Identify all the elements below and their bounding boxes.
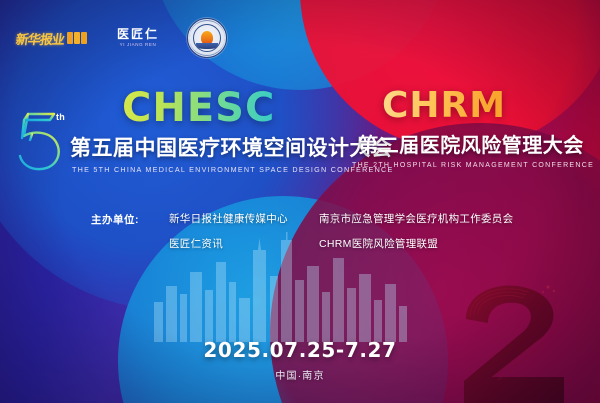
left-en-title: THE 5TH CHINA MEDICAL ENVIRONMENT SPACE …	[72, 165, 352, 174]
organizer-item: 医匠仁资讯	[169, 236, 319, 251]
yijiangren-logo-en: YI JIANG REN	[120, 43, 157, 48]
event-location: 中国·南京	[0, 367, 600, 382]
organizer-item: 南京市应急管理学会医疗机构工作委员会	[319, 211, 509, 226]
xinhua-logo: 新华报业	[14, 26, 89, 51]
organizer-item: 新华日报社健康传媒中心	[169, 211, 319, 226]
event-date-block: 2025.07.25-7.27 中国·南京	[0, 338, 600, 382]
association-seal-logo	[187, 18, 227, 58]
seal-inner	[193, 24, 221, 52]
organizers-section: 主办单位: 新华日报社健康传媒中心 医匠仁资讯 南京市应急管理学会医疗机构工作委…	[0, 211, 600, 251]
right-conference-block: CHRM 第二届医院风险管理大会 THE 2TH HOSPITAL RISK M…	[352, 88, 600, 169]
organizers-label: 主办单位:	[91, 211, 169, 227]
left-conference-block: th CHESC 第五届中国医疗环境空间设计大会 THE 5TH CHINA M…	[0, 88, 352, 174]
organizer-item: CHRM医院风险管理联盟	[319, 236, 509, 251]
wave-icon	[196, 43, 218, 49]
right-cn-title: 第二届医院风险管理大会	[352, 129, 590, 158]
yijiangren-logo: 医匠仁 YI JIANG REN	[117, 28, 159, 48]
xinhua-logo-blocks	[67, 32, 87, 44]
conference-poster: 新华报业 医匠仁 YI JIANG REN	[0, 0, 600, 403]
sponsor-logo-bar: 新华报业 医匠仁 YI JIANG REN	[14, 18, 227, 58]
organizers-column-one: 新华日报社健康传媒中心 医匠仁资讯	[169, 211, 319, 251]
event-date: 2025.07.25-7.27	[0, 338, 600, 362]
chrm-acronym: CHRM	[382, 88, 590, 124]
headline-row: th CHESC 第五届中国医疗环境空间设计大会 THE 5TH CHINA M…	[0, 88, 600, 174]
organizers-column-two: 南京市应急管理学会医疗机构工作委员会 CHRM医院风险管理联盟	[319, 211, 509, 251]
organizers-inner: 主办单位: 新华日报社健康传媒中心 医匠仁资讯 南京市应急管理学会医疗机构工作委…	[91, 211, 509, 251]
yijiangren-logo-cn: 医匠仁	[117, 28, 159, 40]
chesc-acronym: CHESC	[122, 88, 352, 128]
xinhua-logo-text: 新华报业	[15, 29, 66, 48]
left-cn-title: 第五届中国医疗环境空间设计大会	[70, 132, 352, 162]
ordinal-suffix: th	[56, 112, 65, 122]
right-en-title: THE 2TH HOSPITAL RISK MANAGEMENT CONFERE…	[352, 162, 590, 169]
